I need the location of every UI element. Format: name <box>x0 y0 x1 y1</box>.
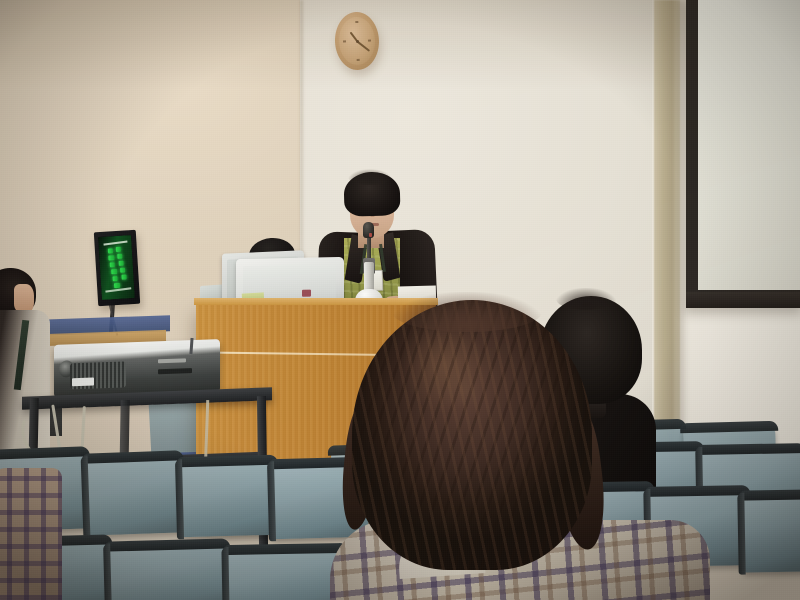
display-glyph <box>110 262 115 267</box>
display-glyph <box>108 248 113 253</box>
auditorium-chair <box>107 542 229 600</box>
clock-tick-9 <box>343 41 346 43</box>
chair-side-edge <box>81 456 91 538</box>
clock-tick-3 <box>368 40 371 42</box>
display-glyph <box>112 276 117 281</box>
projector-brand-mark <box>158 358 186 363</box>
chair-top-rail <box>0 446 90 460</box>
auditorium-chair <box>85 454 184 535</box>
wall-column <box>654 0 680 470</box>
display-glyph <box>116 247 121 252</box>
clock-face <box>338 16 376 65</box>
projection-screen-surface <box>698 0 800 290</box>
clock-center-pin <box>355 39 358 42</box>
display-glyph <box>120 268 125 273</box>
display-glyph <box>121 274 126 279</box>
chair-side-edge <box>221 547 229 600</box>
chair-top-rail <box>644 485 750 497</box>
chair-side-edge <box>737 493 745 575</box>
photograph-conference-room: A man speaks at a wooden podium in a lec… <box>0 0 800 600</box>
projection-screen <box>686 0 800 308</box>
audience-front-hair-texture <box>352 300 592 570</box>
auditorium-chair <box>741 493 800 572</box>
display-glyph <box>108 255 114 260</box>
audience-right-hair-highlight <box>556 288 616 310</box>
display-glyph <box>117 254 122 259</box>
laptop-logo <box>302 290 311 297</box>
chair-side-edge <box>267 461 276 541</box>
speaker-hair-highlight <box>348 169 392 185</box>
microphone-stem <box>364 262 374 292</box>
chair-side-edge <box>103 544 112 600</box>
chair-top-rail <box>696 443 800 455</box>
chair-top-rail <box>176 455 278 468</box>
display-bezel <box>98 235 135 300</box>
clock-tick-6 <box>356 59 359 61</box>
chair-side-edge <box>175 459 184 539</box>
projection-screen-bottom-bar <box>686 292 800 308</box>
display-glyph <box>111 269 117 274</box>
audience-front-hair-crown <box>392 292 542 332</box>
chair-top-rail <box>680 421 778 434</box>
audience-left-edge-plaid <box>0 468 62 600</box>
projector-label <box>72 378 94 387</box>
clock-tick-12 <box>355 21 358 23</box>
chair-top-rail <box>82 450 184 464</box>
projector-port-panel <box>158 368 192 374</box>
auditorium-chair <box>179 459 277 537</box>
green-text-display <box>94 230 140 306</box>
audience-front-hair <box>352 300 592 570</box>
chair-top-rail <box>738 489 800 500</box>
auditorium-chair <box>225 547 346 600</box>
chair-top-rail <box>104 538 230 551</box>
display-glyph <box>114 283 120 288</box>
data-projector <box>54 339 220 397</box>
chair-top-rail <box>222 543 348 555</box>
microphone-indicator <box>369 233 372 237</box>
display-glyph <box>119 261 124 266</box>
